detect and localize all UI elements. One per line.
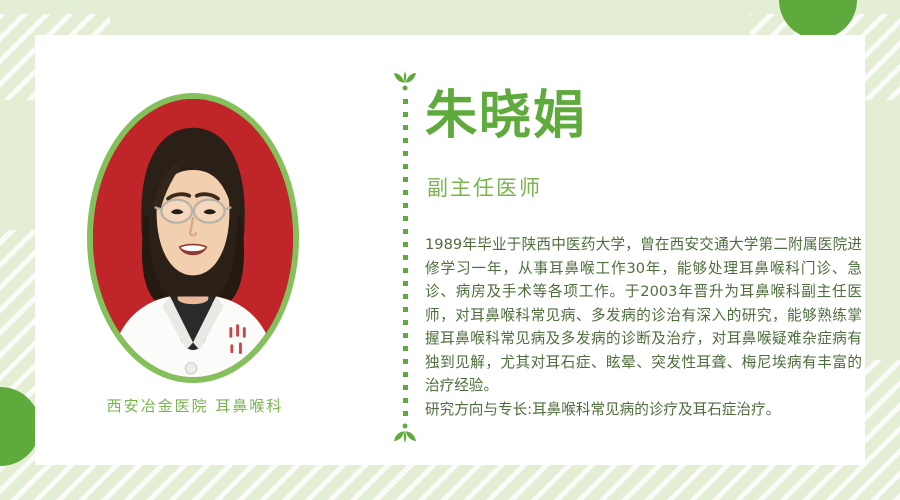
decorative-circle-bottom-left [0, 387, 40, 466]
profile-card-surface: 西安冶金医院 耳鼻喉科 [35, 35, 865, 465]
avatar [87, 93, 299, 383]
doctor-biography: 1989年毕业于陕西中医药大学，曾在西安交通大学第二附属医院进修学习一年，从事耳… [425, 233, 862, 421]
biography-paragraph: 1989年毕业于陕西中医药大学，曾在西安交通大学第二附属医院进修学习一年，从事耳… [425, 233, 862, 398]
leaf-sprout-icon-top [392, 69, 418, 91]
doctor-photo [93, 99, 293, 377]
doctor-profile-card: 西安冶金医院 耳鼻喉科 [0, 0, 900, 500]
text-column: 朱晓娟 副主任医师 1989年毕业于陕西中医药大学，曾在西安交通大学第二附属医院… [425, 35, 865, 465]
decorative-divider [392, 63, 418, 453]
decorative-circle-top-right [779, 0, 857, 39]
biography-specialty-paragraph: 研究方向与专长:耳鼻喉科常见病的诊疗及耳石症治疗。 [425, 398, 862, 422]
background-flat-patch [865, 300, 900, 360]
clinic-department-label: 西安冶金医院 耳鼻喉科 [35, 395, 355, 416]
doctor-job-title: 副主任医师 [427, 172, 542, 202]
leaf-sprout-icon-bottom [392, 423, 418, 445]
dotted-divider-line [403, 99, 408, 417]
portrait-column: 西安冶金医院 耳鼻喉科 [35, 35, 405, 465]
page-title: 朱晓娟 [425, 90, 587, 142]
